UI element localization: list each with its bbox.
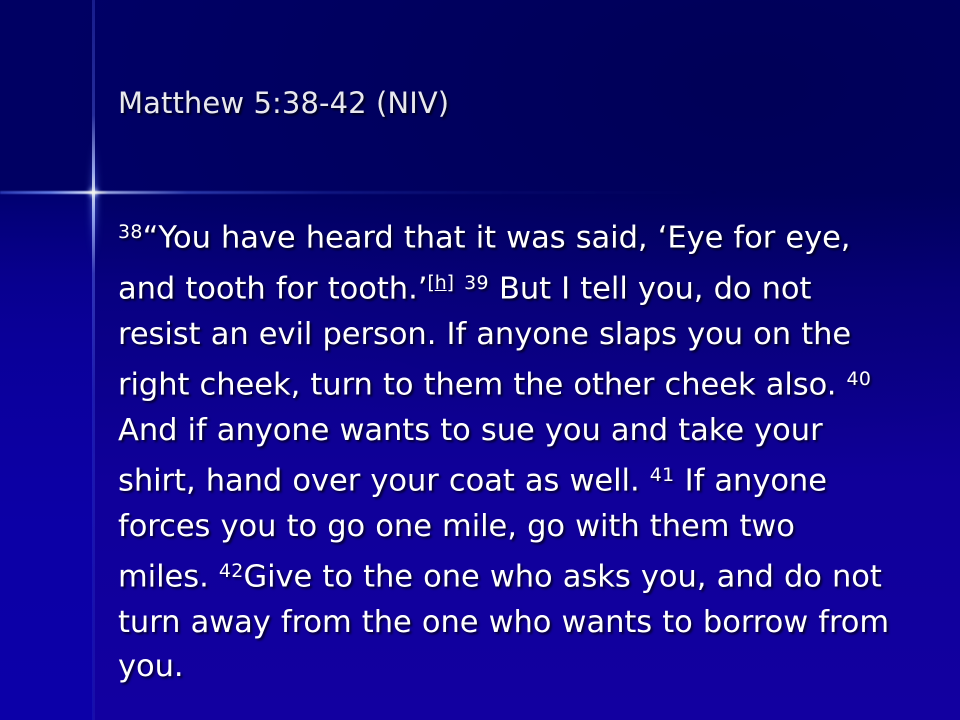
cross-vertical-glow-icon (86, 120, 102, 280)
footnote-link-h[interactable]: h (435, 272, 447, 294)
verse-number-40: 40 (847, 368, 872, 390)
cross-vertical-beam-icon (92, 0, 95, 720)
slide-title: Matthew 5:38-42 (NIV) (118, 86, 898, 120)
cross-center-starburst-icon (85, 184, 102, 201)
scripture-body: 38“You have heard that it was said, ‘Eye… (118, 210, 890, 690)
footnote-marker-h[interactable]: [h] (427, 272, 454, 294)
cross-horizontal-beam-icon (0, 191, 720, 194)
verse-number-39: 39 (464, 272, 489, 294)
background-left-column (0, 0, 93, 720)
verse-number-42: 42 (219, 560, 244, 582)
background-left-column-top (0, 0, 93, 192)
slide-canvas: Matthew 5:38-42 (NIV) 38“You have heard … (0, 0, 960, 720)
verse-number-38: 38 (118, 221, 143, 243)
verse-number-41: 41 (650, 464, 675, 486)
